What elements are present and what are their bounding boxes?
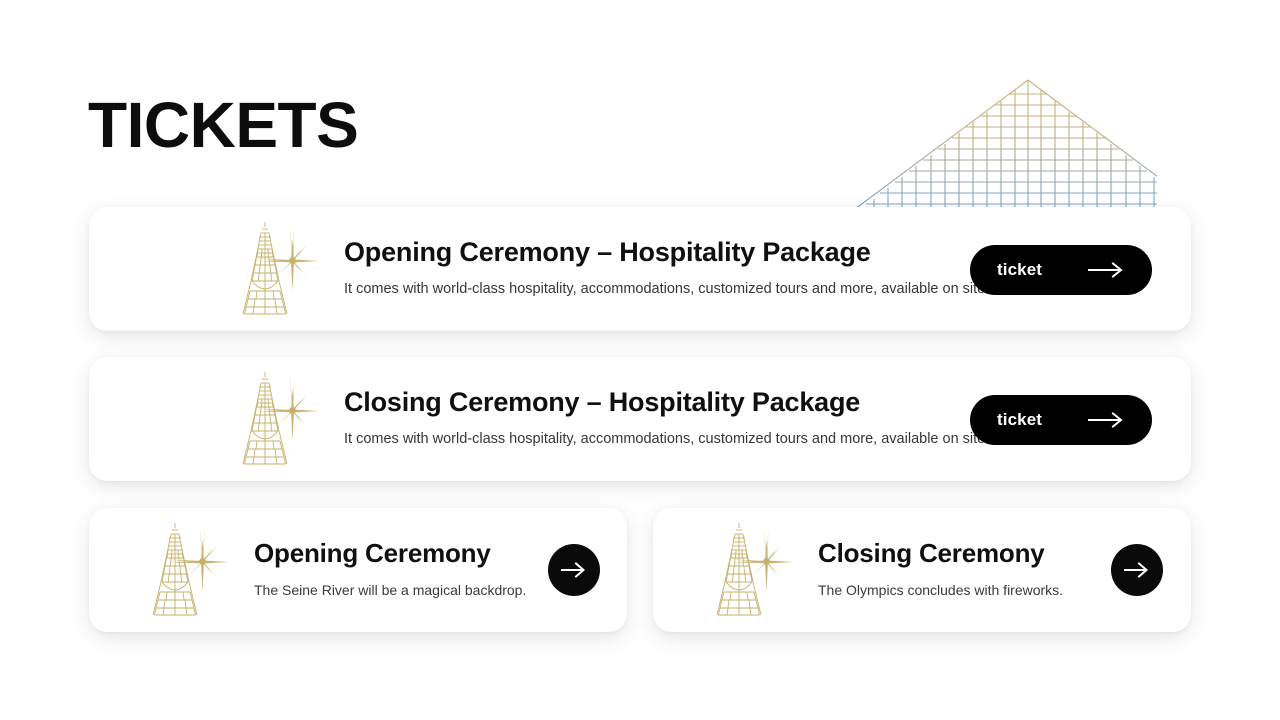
louvre-pyramid-wireframe-icon	[845, 72, 1157, 214]
card-subtitle: It comes with world-class hospitality, a…	[344, 429, 989, 449]
card-subtitle: It comes with world-class hospitality, a…	[344, 279, 989, 299]
eiffel-tower-sparkle-icon	[709, 520, 793, 620]
ticket-card-opening-ceremony[interactable]: Opening Ceremony The Seine River will be…	[89, 508, 627, 632]
card-title: Closing Ceremony	[818, 536, 1063, 570]
card-text-block: Closing Ceremony – Hospitality Package I…	[344, 385, 989, 449]
ticket-card-closing-hospitality[interactable]: Closing Ceremony – Hospitality Package I…	[89, 357, 1191, 481]
card-title: Opening Ceremony – Hospitality Package	[344, 235, 989, 269]
eiffel-tower-sparkle-icon	[145, 520, 229, 620]
card-text-block: Opening Ceremony The Seine River will be…	[254, 536, 526, 600]
card-title: Opening Ceremony	[254, 536, 526, 570]
slide-root: TICKETS	[0, 0, 1280, 720]
arrow-right-icon	[1123, 562, 1151, 578]
page-title: TICKETS	[88, 88, 358, 162]
ticket-button-label: ticket	[997, 260, 1042, 280]
ticket-button-label: ticket	[997, 410, 1042, 430]
ticket-card-opening-hospitality[interactable]: Opening Ceremony – Hospitality Package I…	[89, 207, 1191, 331]
ticket-card-closing-ceremony[interactable]: Closing Ceremony The Olympics concludes …	[653, 508, 1191, 632]
eiffel-tower-sparkle-icon	[235, 369, 319, 469]
ticket-button[interactable]: ticket	[970, 395, 1152, 445]
arrow-right-icon	[560, 562, 588, 578]
arrow-button[interactable]	[1111, 544, 1163, 596]
arrow-right-icon	[1088, 262, 1126, 278]
card-text-block: Opening Ceremony – Hospitality Package I…	[344, 235, 989, 299]
arrow-button[interactable]	[548, 544, 600, 596]
eiffel-tower-sparkle-icon	[235, 219, 319, 319]
arrow-right-icon	[1088, 412, 1126, 428]
card-title: Closing Ceremony – Hospitality Package	[344, 385, 989, 419]
card-text-block: Closing Ceremony The Olympics concludes …	[818, 536, 1063, 600]
ticket-button[interactable]: ticket	[970, 245, 1152, 295]
card-subtitle: The Seine River will be a magical backdr…	[254, 580, 526, 600]
card-subtitle: The Olympics concludes with fireworks.	[818, 580, 1063, 600]
